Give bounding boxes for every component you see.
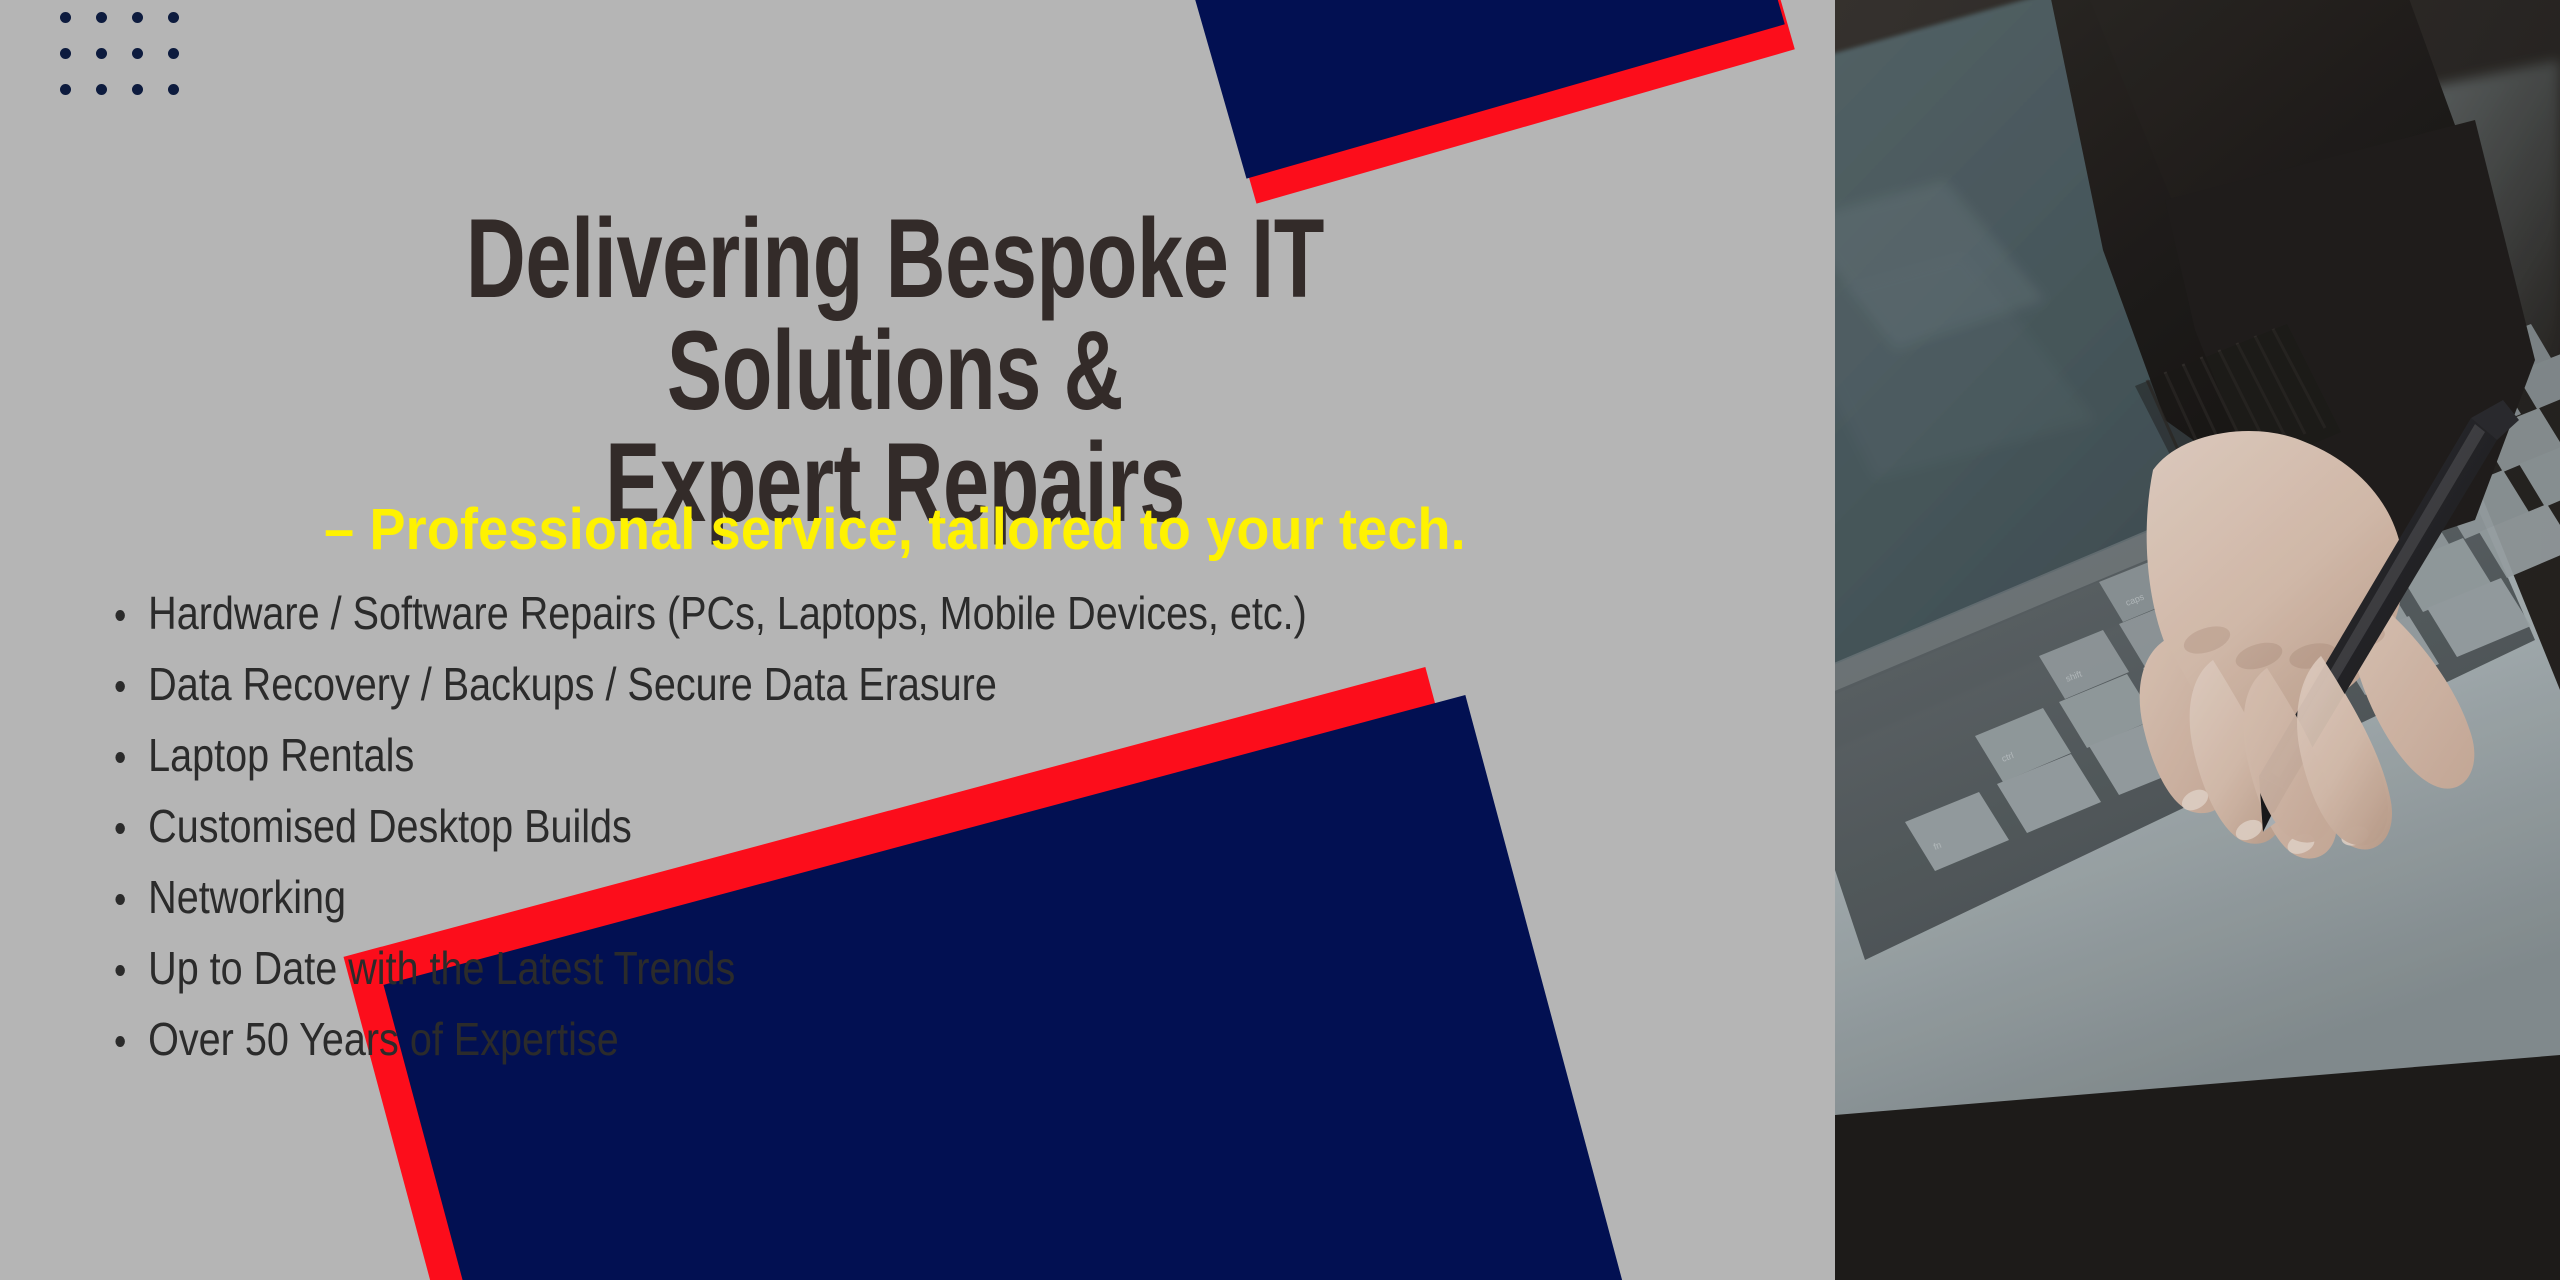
dot-icon [96, 12, 107, 23]
list-item: Customised Desktop Builds [112, 791, 1307, 862]
dot-icon [168, 12, 179, 23]
page-title: Delivering Bespoke IT Solutions & Expert… [303, 203, 1487, 539]
list-item: Data Recovery / Backups / Secure Data Er… [112, 649, 1307, 720]
dot-grid-decoration [60, 12, 204, 120]
dot-icon [96, 84, 107, 95]
feature-list: Hardware / Software Repairs (PCs, Laptop… [112, 578, 1501, 1075]
dot-icon [96, 48, 107, 59]
it-services-banner: Delivering Bespoke IT Solutions & Expert… [0, 0, 2560, 1280]
list-item: Over 50 Years of Expertise [112, 1004, 1307, 1075]
hero-photo: esc tab caps shift ctrl fn [1835, 0, 2560, 1280]
page-subtitle: – Professional service, tailored to your… [151, 500, 1639, 561]
list-item: Hardware / Software Repairs (PCs, Laptop… [112, 578, 1307, 649]
content-panel: Delivering Bespoke IT Solutions & Expert… [0, 0, 1835, 1280]
dot-icon [132, 84, 143, 95]
list-item: Networking [112, 862, 1307, 933]
dot-icon [132, 48, 143, 59]
dot-icon [168, 48, 179, 59]
accent-shape-navy-top [1125, 0, 1785, 179]
list-item: Laptop Rentals [112, 720, 1307, 791]
dot-icon [132, 12, 143, 23]
laptop-stylus-photo-illustration: esc tab caps shift ctrl fn [1835, 0, 2560, 1280]
list-item: Up to Date with the Latest Trends [112, 933, 1307, 1004]
dot-icon [60, 84, 71, 95]
dot-icon [60, 48, 71, 59]
dot-icon [168, 84, 179, 95]
dot-icon [60, 12, 71, 23]
